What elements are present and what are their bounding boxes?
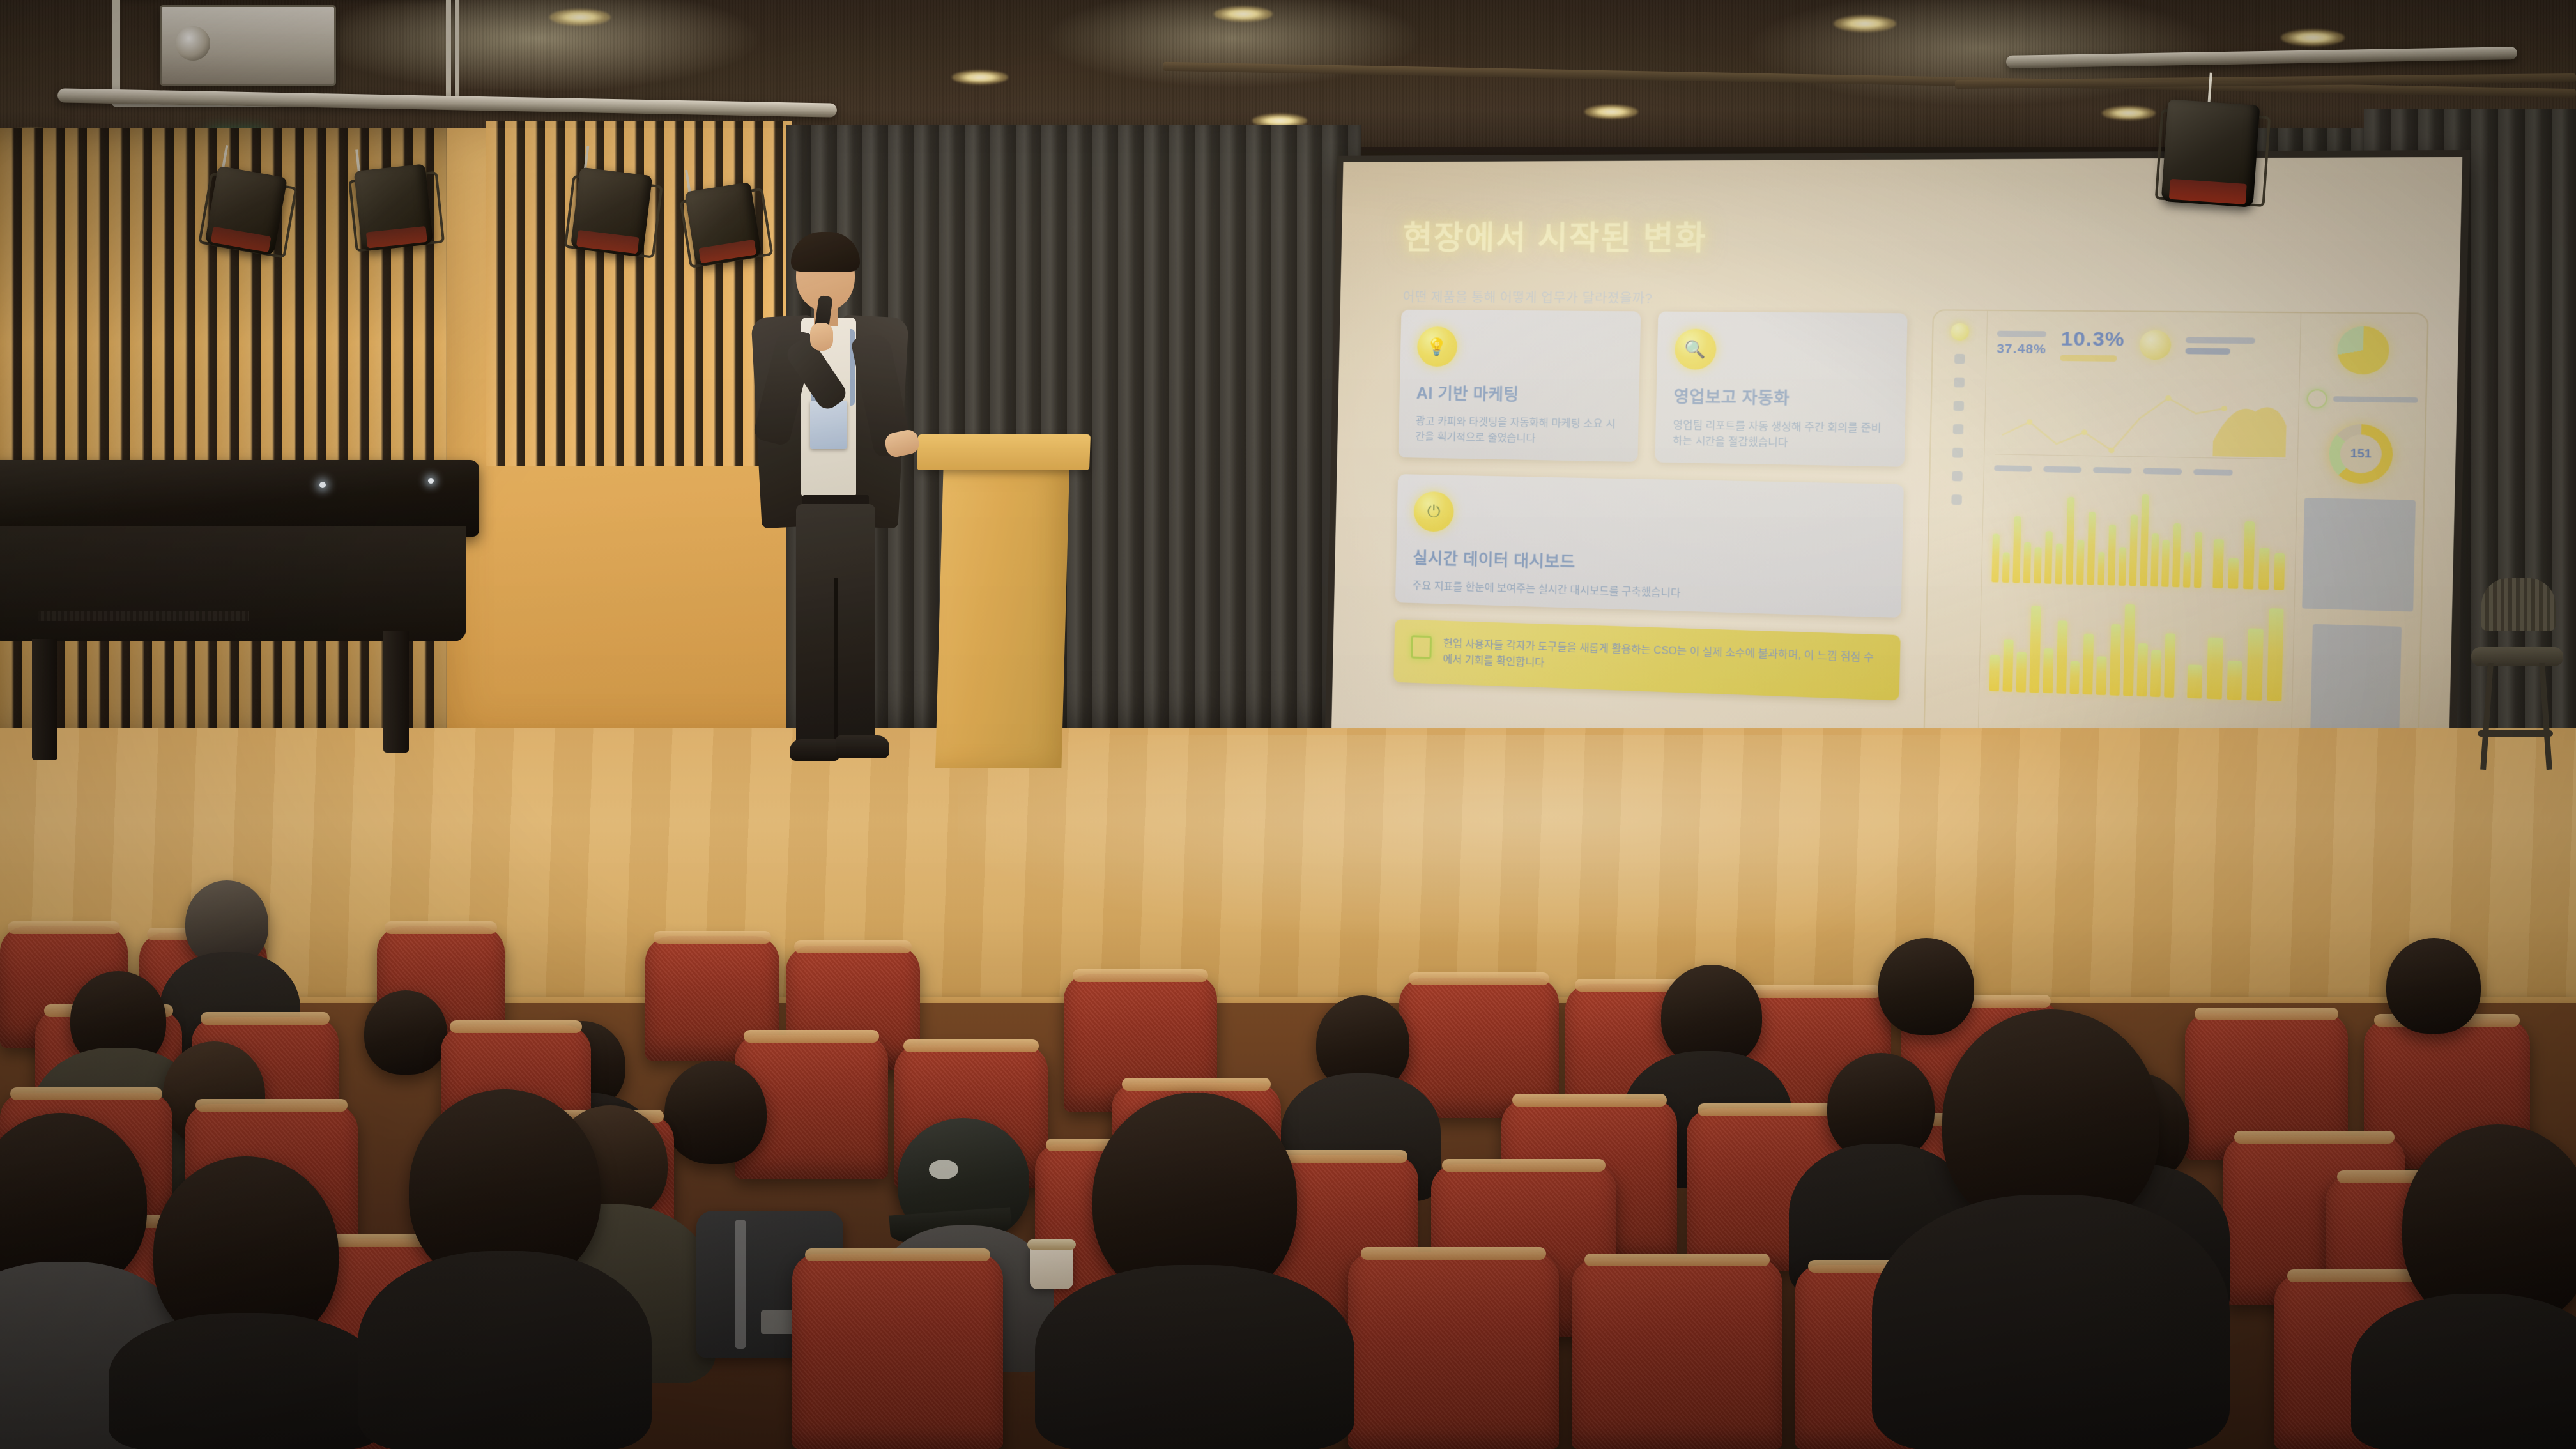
seat [1348, 1252, 1559, 1449]
line-chart [1995, 373, 2289, 459]
sidebar-nav-icon [1952, 448, 1963, 458]
kpi-secondary-block: 37.48% [1997, 330, 2047, 357]
seat [792, 1253, 1003, 1449]
bar-chart-lower-section [1989, 590, 2284, 701]
bar [2212, 539, 2224, 588]
light-body [2161, 99, 2260, 208]
bar [2207, 638, 2223, 700]
audience-member-body [2351, 1294, 2576, 1449]
piano-keys [38, 611, 249, 621]
podium-body [935, 468, 1069, 768]
presenter [735, 220, 926, 776]
power-icon: ⏻ [1413, 491, 1454, 532]
bar [2016, 652, 2027, 693]
audience-member-body [1035, 1265, 1354, 1449]
bar [2247, 628, 2264, 700]
piano-body [0, 526, 466, 641]
presenter-hair [791, 232, 860, 272]
legend-item [2093, 466, 2132, 473]
piano-highlight [428, 478, 434, 484]
bar [2194, 532, 2202, 588]
pie-chart [2337, 326, 2390, 375]
podium-top [917, 434, 1091, 470]
bar [2034, 547, 2041, 583]
bar [2002, 639, 2013, 692]
dashboard-sidebar [1924, 310, 1988, 768]
note-icon [1411, 635, 1432, 659]
presenter-hand-left [810, 323, 833, 351]
bar [2055, 544, 2062, 585]
downlight [952, 70, 1008, 84]
bar [1989, 655, 2000, 691]
kpi-primary-block: 10.3% [2060, 328, 2126, 362]
slide-card: 🔍 영업보고 자동화 영업팀 리포트를 자동 생성해 주간 회의를 준비하는 시… [1655, 312, 1907, 467]
dashboard-mockup: 37.48% 10.3% [1922, 309, 2428, 787]
kpi-secondary-value: 37.48% [1997, 342, 2046, 357]
audience-seating [0, 735, 2576, 1449]
bar [2183, 551, 2191, 587]
search-icon: 🔍 [1675, 328, 1717, 369]
slide-card: 💡 AI 기반 마케팅 광고 카피와 타겟팅을 자동화해 마케팅 소요 시간을 … [1399, 310, 1641, 462]
bar [2150, 650, 2161, 697]
sidebar-nav-icon [1952, 471, 1963, 481]
bar [2161, 540, 2170, 587]
bar [2151, 533, 2159, 586]
bar-chart-main [1991, 481, 2203, 588]
downlight [2281, 29, 2345, 46]
bar [2097, 551, 2105, 585]
bar-chart-lower-left [1989, 590, 2177, 698]
bar [2258, 548, 2269, 590]
piano-highlight [319, 482, 326, 488]
cap-logo-icon [929, 1160, 958, 1179]
slide-title: 현장에서 시작된 변화 [1402, 211, 2423, 261]
bar [2108, 525, 2116, 586]
stool-backrest [2481, 578, 2556, 631]
downlight [2102, 106, 2156, 120]
slide-banner: 현업 사용자들 각자가 도구들을 새롭게 활용하는 CSO는 이 실제 소수에 … [1393, 619, 1900, 700]
cup-lid [1027, 1239, 1076, 1250]
audience-member [664, 1061, 767, 1164]
bar [2164, 633, 2175, 698]
donut-value: 151 [2340, 434, 2382, 474]
bar [2012, 516, 2021, 583]
light-body [571, 167, 653, 257]
chart-legend [1994, 463, 2287, 479]
audience-member-body [358, 1251, 652, 1449]
light-body [354, 164, 434, 251]
downlight [549, 9, 611, 26]
downlight [1584, 105, 1638, 119]
seat [1572, 1259, 1782, 1449]
downlight [1214, 6, 1273, 22]
legend-item [2143, 468, 2182, 475]
bar [2029, 606, 2041, 693]
bar-chart-small [2212, 486, 2286, 590]
baseball-cap [898, 1118, 1029, 1241]
slide-subtitle: 어떤 제품을 통해 어떻게 업무가 달라졌을까? [1403, 287, 2422, 312]
par-can-stage-light [204, 165, 287, 256]
kpi-third-block [2185, 337, 2255, 355]
progress-bar [2302, 498, 2416, 611]
sidebar-nav-icon [1954, 378, 1965, 388]
bar [2044, 531, 2053, 584]
bar [2043, 648, 2053, 693]
presenter-leg-split [834, 578, 838, 741]
bar [2023, 542, 2031, 583]
bar [2137, 643, 2148, 697]
bar [2096, 656, 2107, 695]
light-face [2168, 179, 2247, 204]
light-body [204, 165, 287, 256]
ceiling-projector [160, 5, 336, 86]
card-title: 실시간 데이터 대시보드 [1413, 545, 1884, 581]
projector-rod [446, 0, 451, 96]
kpi-label-bar [1997, 330, 2046, 337]
legend-item [2043, 466, 2081, 473]
projector-rod [115, 0, 120, 96]
audience-member-body [109, 1313, 383, 1449]
bar [2123, 604, 2135, 696]
bar [2187, 664, 2202, 699]
par-can-stage-light [2161, 99, 2260, 208]
backpack-strap [735, 1220, 746, 1349]
audience-member [364, 990, 447, 1075]
sidebar-nav-icon [1954, 354, 1965, 364]
projector-lens [176, 26, 210, 61]
bar [2066, 497, 2074, 585]
line-chart-svg [1995, 373, 2289, 459]
par-can-stage-light [354, 164, 434, 251]
legend-item [2193, 468, 2232, 475]
dashboard-metric-row [2306, 389, 2418, 410]
bar [2056, 620, 2067, 694]
bar [2227, 661, 2242, 700]
audience-member-with-cap [898, 1118, 1029, 1241]
bar [2228, 558, 2239, 589]
bar [2274, 553, 2285, 590]
bar-chart-lower-right [2187, 596, 2284, 701]
bar [1991, 533, 2000, 582]
grand-piano [0, 460, 492, 728]
bar [2267, 608, 2284, 701]
downlight [1834, 15, 1896, 32]
bar [2069, 661, 2080, 694]
audience-member [2386, 938, 2481, 1034]
bar [2129, 515, 2138, 586]
sidebar-nav-icon [1951, 494, 1962, 505]
stool-seat [2471, 647, 2563, 666]
kpi-blob-icon [2139, 330, 2172, 360]
cloud-icon [2306, 389, 2327, 409]
kpi-primary-value: 10.3% [2060, 328, 2125, 351]
kpi-row: 37.48% 10.3% [1997, 322, 2290, 368]
card-row: 💡 AI 기반 마케팅 광고 카피와 타겟팅을 자동화해 마케팅 소요 시간을 … [1399, 310, 1908, 467]
bar [2243, 521, 2255, 590]
drink-cup [1030, 1245, 1073, 1289]
bar [2076, 540, 2085, 585]
card-title: AI 기반 마케팅 [1416, 381, 1621, 407]
par-can-stage-light [571, 167, 653, 257]
podium [930, 434, 1077, 773]
bar [2110, 624, 2121, 696]
dashboard-main: 37.48% 10.3% [1978, 311, 2301, 781]
progress-bar [2310, 624, 2402, 739]
kpi-trend-bar [2060, 355, 2117, 361]
card-description: 주요 지표를 한눈에 보여주는 실시간 대시보드를 구축했습니다 [1412, 579, 1883, 608]
lightbulb-icon: 💡 [1417, 326, 1458, 367]
bar [2083, 634, 2094, 695]
bar [2172, 523, 2181, 587]
piano-lid [0, 460, 479, 537]
card-description: 광고 카피와 타겟팅을 자동화해 마케팅 소요 시간을 획기적으로 줄였습니다 [1415, 414, 1621, 448]
bar [2002, 552, 2010, 583]
bar [2087, 512, 2096, 585]
dashboard-right-rail: 151 [2290, 313, 2428, 786]
bar [2140, 494, 2149, 586]
kpi-label-bar [2185, 348, 2230, 354]
slide-card: ⏻ 실시간 데이터 대시보드 주요 지표를 한눈에 보여주는 실시간 대시보드를… [1395, 474, 1904, 618]
legend-item [1994, 465, 2032, 472]
banner-text: 현업 사용자들 각자가 도구들을 새롭게 활용하는 CSO는 이 실제 소수에 … [1443, 636, 1882, 684]
slide-left-column: 💡 AI 기반 마케팅 광고 카피와 타겟팅을 자동화해 마케팅 소요 시간을 … [1391, 310, 1908, 801]
audience-member-body [1872, 1195, 2230, 1449]
brand-logo-icon [1951, 323, 1969, 341]
card-description: 영업팀 리포트를 자동 생성해 주간 회의를 준비하는 시간을 절감했습니다 [1673, 418, 1887, 453]
bar [2119, 547, 2126, 586]
card-title: 영업보고 자동화 [1673, 384, 1888, 411]
sidebar-nav-icon [1952, 424, 1963, 434]
donut-chart: 151 [2328, 424, 2393, 484]
auditorium-scene: EXIT 현장에서 시작된 변화 어떤 제품을 통해 어떻게 업무가 달라졌을까… [0, 0, 2576, 1449]
kpi-label-bar [2185, 337, 2255, 344]
metric-label-bar [2333, 396, 2418, 402]
bar-chart-section [1991, 481, 2286, 590]
sidebar-nav-icon [1953, 401, 1964, 411]
light-face [366, 226, 427, 249]
